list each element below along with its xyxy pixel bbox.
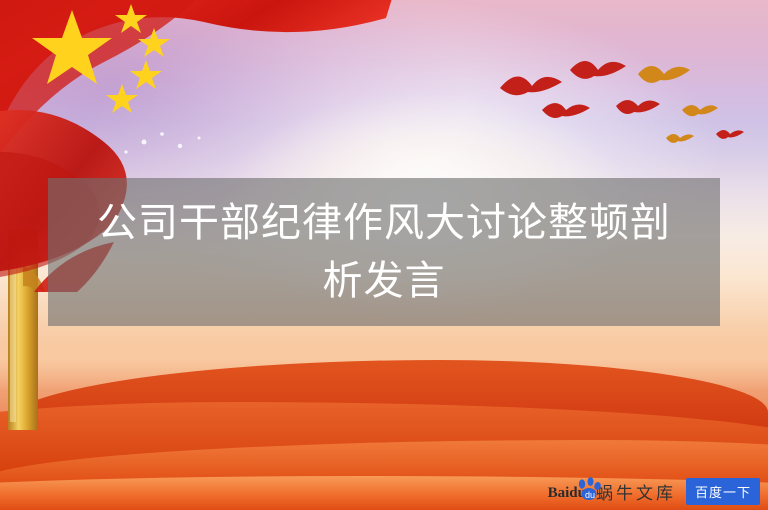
site-name: 蜗牛文库 [596, 479, 676, 504]
baidu-logo: Baidu du [548, 480, 586, 502]
title-plate: 公司干部纪律作风大讨论整顿剖析发言 [48, 178, 720, 326]
baidu-search-button[interactable]: 百度一下 [686, 478, 760, 505]
screenshot-canvas: 公司干部纪律作风大讨论整顿剖析发言 Baidu du 蜗牛文库 百度一下 [0, 0, 768, 510]
baidu-paw-label: du [585, 490, 595, 500]
page-title: 公司干部纪律作风大讨论整顿剖析发言 [48, 194, 720, 310]
baidu-paw-icon: du [576, 476, 602, 502]
birds-icon [470, 48, 760, 158]
watermark-bar: Baidu du 蜗牛文库 百度一下 [548, 478, 760, 504]
